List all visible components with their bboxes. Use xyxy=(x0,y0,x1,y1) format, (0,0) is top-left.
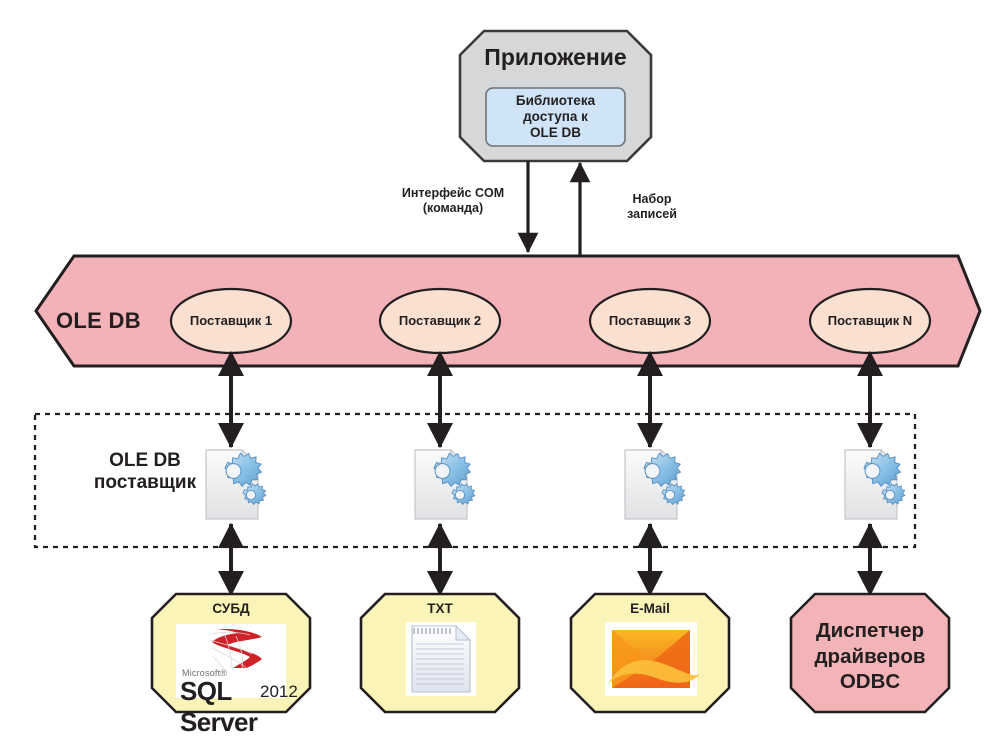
email-envelope-icon xyxy=(605,622,700,696)
provider-icon-3 xyxy=(625,450,685,519)
page-title: Приложение xyxy=(460,44,651,71)
provider-label-2[interactable]: Поставщик 2 xyxy=(380,313,500,328)
flow-label-com: Интерфейс COM (команда) xyxy=(388,186,518,216)
source-caption-txt: TXT xyxy=(361,601,519,617)
provider-icon-2 xyxy=(415,450,475,519)
sql-year-text: 2012 xyxy=(260,682,298,702)
source-caption-odbc: Диспетчер драйверов ODBC xyxy=(791,618,949,695)
provider-icon-4 xyxy=(845,450,905,519)
provider-label-1[interactable]: Поставщик 1 xyxy=(171,313,291,328)
diagram-canvas: Приложение Библиотека доступа к OLE DB И… xyxy=(0,0,1000,750)
provider-layer-label: OLE DB поставщик xyxy=(60,450,230,495)
library-box-label: Библиотека доступа к OLE DB xyxy=(486,93,625,141)
provider-label-4[interactable]: Поставщик N xyxy=(810,313,930,328)
arrows-provider-to-source xyxy=(231,524,870,595)
source-caption-dbms: СУБД xyxy=(152,601,310,617)
source-caption-email: E-Mail xyxy=(571,601,729,617)
flow-label-recordset: Набор записей xyxy=(592,192,712,222)
text-file-icon xyxy=(406,622,476,696)
oledb-band-title: OLE DB xyxy=(56,308,186,334)
provider-label-3[interactable]: Поставщик 3 xyxy=(590,313,710,328)
sql-server-wordmark: Microsoft® SQL Server 2012 xyxy=(178,668,284,698)
